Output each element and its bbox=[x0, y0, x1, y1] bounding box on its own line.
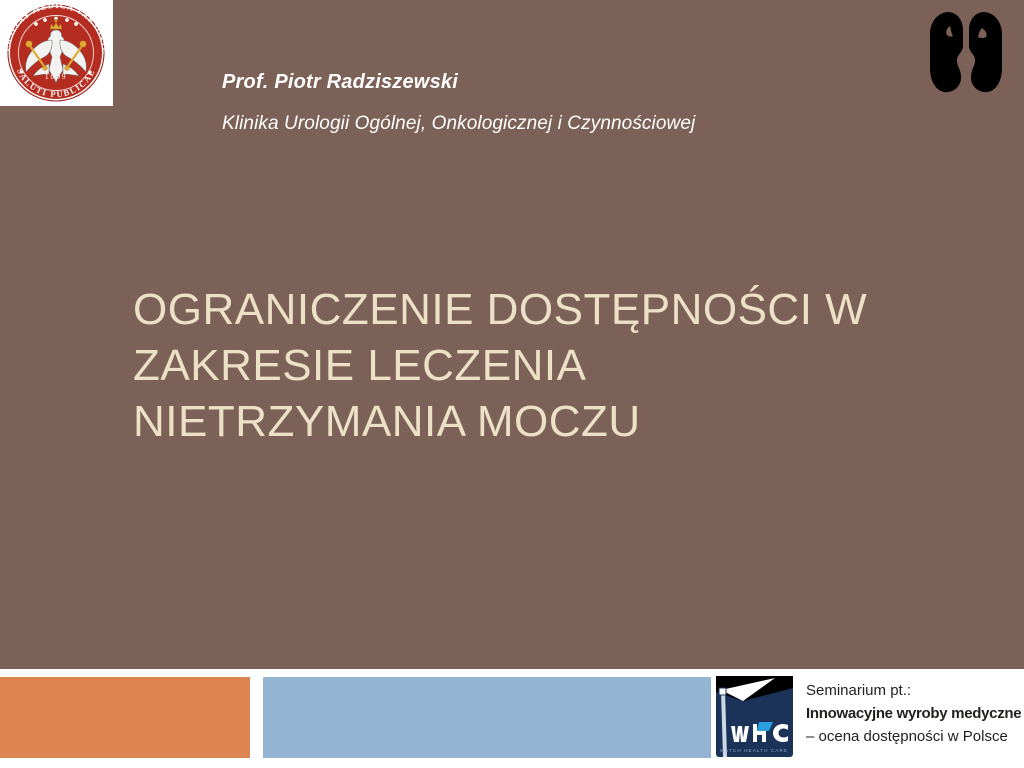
whc-logo: WATCH HEALTH CARE bbox=[713, 674, 796, 759]
footer-accent-bar-orange bbox=[0, 677, 250, 758]
presenter-name: Prof. Piotr Radziszewski bbox=[222, 70, 922, 94]
footer-accent-bar-blue bbox=[263, 677, 711, 758]
presentation-slide: UNIVERSITAS MEDICA VARSOVIENSIS SALUTI P… bbox=[0, 0, 1024, 768]
presenter-department: Klinika Urologii Ogólnej, Onkologicznej … bbox=[222, 112, 922, 135]
title-line-3: NIETRZYMANIA MOCZU bbox=[133, 394, 963, 450]
seminar-caption: Seminarium pt.: Innowacyjne wyroby medyc… bbox=[806, 679, 1021, 748]
seminar-label: Seminarium pt.: bbox=[806, 679, 1021, 702]
presenter-header: Prof. Piotr Radziszewski Klinika Urologi… bbox=[222, 70, 922, 135]
svg-text:1809: 1809 bbox=[45, 72, 67, 81]
title-line-2: ZAKRESIE LECZENIA bbox=[133, 338, 963, 394]
seminar-subtitle: – ocena dostępności w Polsce bbox=[806, 725, 1021, 748]
university-seal-logo: UNIVERSITAS MEDICA VARSOVIENSIS SALUTI P… bbox=[0, 0, 113, 106]
seminar-topic: Innowacyjne wyroby medyczne bbox=[806, 702, 1021, 725]
urology-clinic-logo bbox=[920, 6, 1012, 98]
title-line-1: OGRANICZENIE DOSTĘPNOŚCI W bbox=[133, 282, 963, 338]
slide-title: OGRANICZENIE DOSTĘPNOŚCI W ZAKRESIE LECZ… bbox=[133, 282, 963, 450]
svg-text:WATCH HEALTH CARE: WATCH HEALTH CARE bbox=[720, 748, 788, 753]
